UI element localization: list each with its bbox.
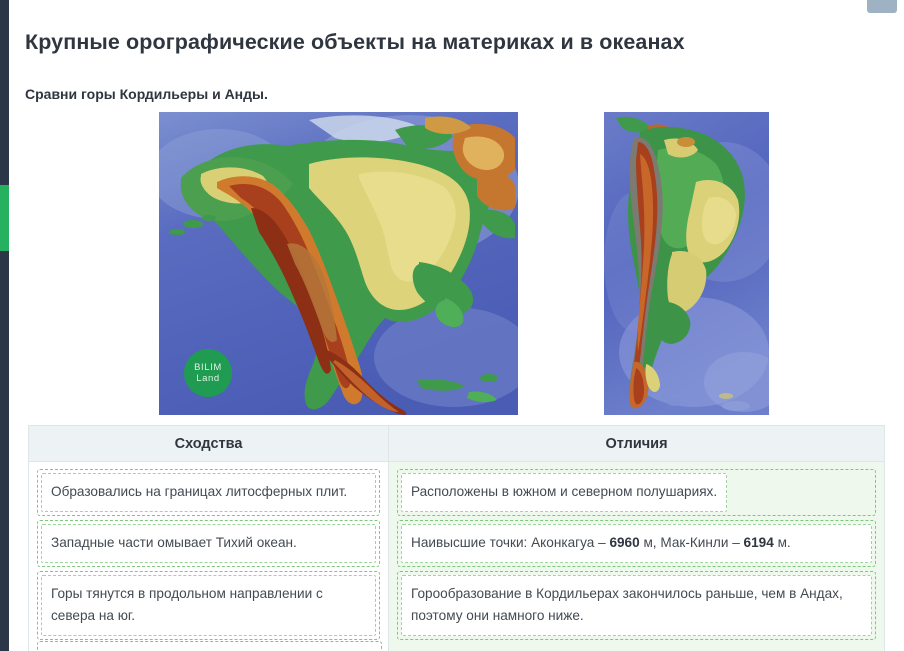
drop-slot[interactable]: Горообразование в Кордильерах закончилос… [397, 571, 876, 640]
left-nav-rail[interactable] [0, 0, 9, 651]
watermark-line-2: Land [196, 373, 220, 384]
left-nav-rail-active-indicator [0, 185, 9, 251]
column-similarities[interactable]: Образовались на границах литосферных пли… [29, 462, 389, 651]
drop-slot[interactable]: Расположены в южном и северном полушария… [397, 469, 876, 516]
maps-row: BILIM Land [9, 112, 904, 415]
bilim-land-watermark: BILIM Land [184, 349, 232, 397]
page-title: Крупные орографические объекты на матери… [25, 27, 865, 57]
answer-chip[interactable]: Расположены в южном и северном полушария… [401, 473, 727, 512]
drop-slot[interactable]: Западные части омывает Тихий океан. [37, 520, 380, 567]
comparison-table-header: Сходства Отличия [29, 426, 884, 462]
answer-chip[interactable]: Горы тянутся в продольном направлении с … [41, 575, 376, 636]
drop-slot[interactable]: Горы тянутся в продольном направлении с … [37, 571, 380, 640]
watermark-line-1: BILIM [194, 362, 222, 373]
column-differences[interactable]: Расположены в южном и северном полушария… [389, 462, 884, 651]
extra-drop-zone[interactable] [37, 641, 382, 651]
lesson-page: Крупные орографические объекты на матери… [9, 0, 904, 651]
drop-slot[interactable]: Наивысшие точки: Аконкагуа – 6960 м, Мак… [397, 520, 876, 567]
answer-chip[interactable]: Горообразование в Кордильерах закончилос… [401, 575, 872, 636]
map-south-america [604, 112, 769, 415]
answer-chip[interactable]: Западные части омывает Тихий океан. [41, 524, 376, 563]
top-right-control-chip[interactable] [867, 0, 897, 13]
answer-chip[interactable]: Образовались на границах литосферных пли… [41, 473, 376, 512]
column-header-differences: Отличия [389, 426, 884, 461]
comparison-table-body: Образовались на границах литосферных пли… [29, 462, 884, 651]
south-america-relief-svg [604, 112, 769, 415]
column-header-similarities: Сходства [29, 426, 389, 461]
answer-chip[interactable]: Наивысшие точки: Аконкагуа – 6960 м, Мак… [401, 524, 872, 563]
drop-slot[interactable]: Образовались на границах литосферных пли… [37, 469, 380, 516]
task-prompt: Сравни горы Кордильеры и Анды. [25, 84, 268, 104]
comparison-table: Сходства Отличия Образовались на граница… [28, 425, 885, 651]
map-north-america: BILIM Land [159, 112, 518, 415]
